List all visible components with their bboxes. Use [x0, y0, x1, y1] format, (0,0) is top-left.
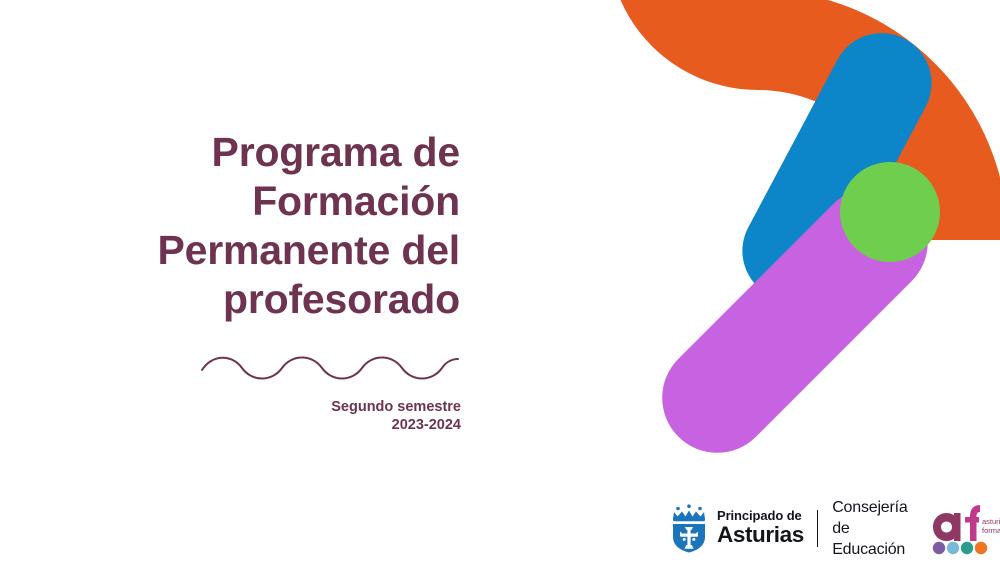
page-title: Programa de Formación Permanente del pro…	[60, 128, 460, 324]
title-line-2: Formación	[252, 178, 460, 224]
af-letter-f-icon	[965, 505, 980, 541]
consejeria-line-2: de Educación	[832, 518, 913, 560]
principado-wordmark: Principado de Asturias	[717, 509, 804, 547]
green-circle-icon	[840, 162, 940, 262]
purple-capsule-icon	[639, 164, 950, 475]
principado-line-2: Asturias	[717, 524, 804, 547]
wavy-divider	[200, 352, 462, 384]
asturias-shield-icon	[668, 503, 710, 553]
main-title: Programa de Formación Permanente del pro…	[60, 128, 460, 324]
principado-line-1: Principado de	[717, 509, 804, 522]
dot-lightblue-icon	[947, 542, 959, 554]
af-dots-row	[933, 542, 987, 554]
poster-canvas: Programa de Formación Permanente del pro…	[0, 0, 1000, 562]
orange-arc-icon	[608, 0, 1000, 240]
subtitle-line-1: Segundo semestre	[180, 398, 461, 416]
af-letter-a-icon	[933, 513, 961, 541]
dot-purple-icon	[933, 542, 945, 554]
wavy-line-icon	[200, 352, 462, 384]
title-line-1: Programa de	[212, 129, 460, 175]
dot-teal-icon	[961, 542, 973, 554]
blue-capsule-icon	[725, 15, 949, 318]
af-word-formacion: formación	[982, 526, 1000, 535]
subtitle-line-2: 2023-2024	[180, 416, 461, 434]
af-asturias-formacion-logo: asturias formación	[930, 501, 1000, 555]
dot-orange-icon	[975, 542, 987, 554]
subtitle-block: Segundo semestre 2023-2024	[180, 398, 461, 434]
consejeria-line-1: Consejería	[832, 497, 913, 518]
logo-divider	[817, 510, 818, 547]
title-line-3: Permanente del	[157, 227, 460, 273]
consejeria-wordmark: Consejería de Educación	[832, 497, 913, 560]
title-line-4: profesorado	[223, 276, 460, 322]
af-word-asturias: asturias	[982, 517, 1000, 526]
footer-logo-bar: Principado de Asturias Consejería de Edu…	[668, 500, 1000, 556]
